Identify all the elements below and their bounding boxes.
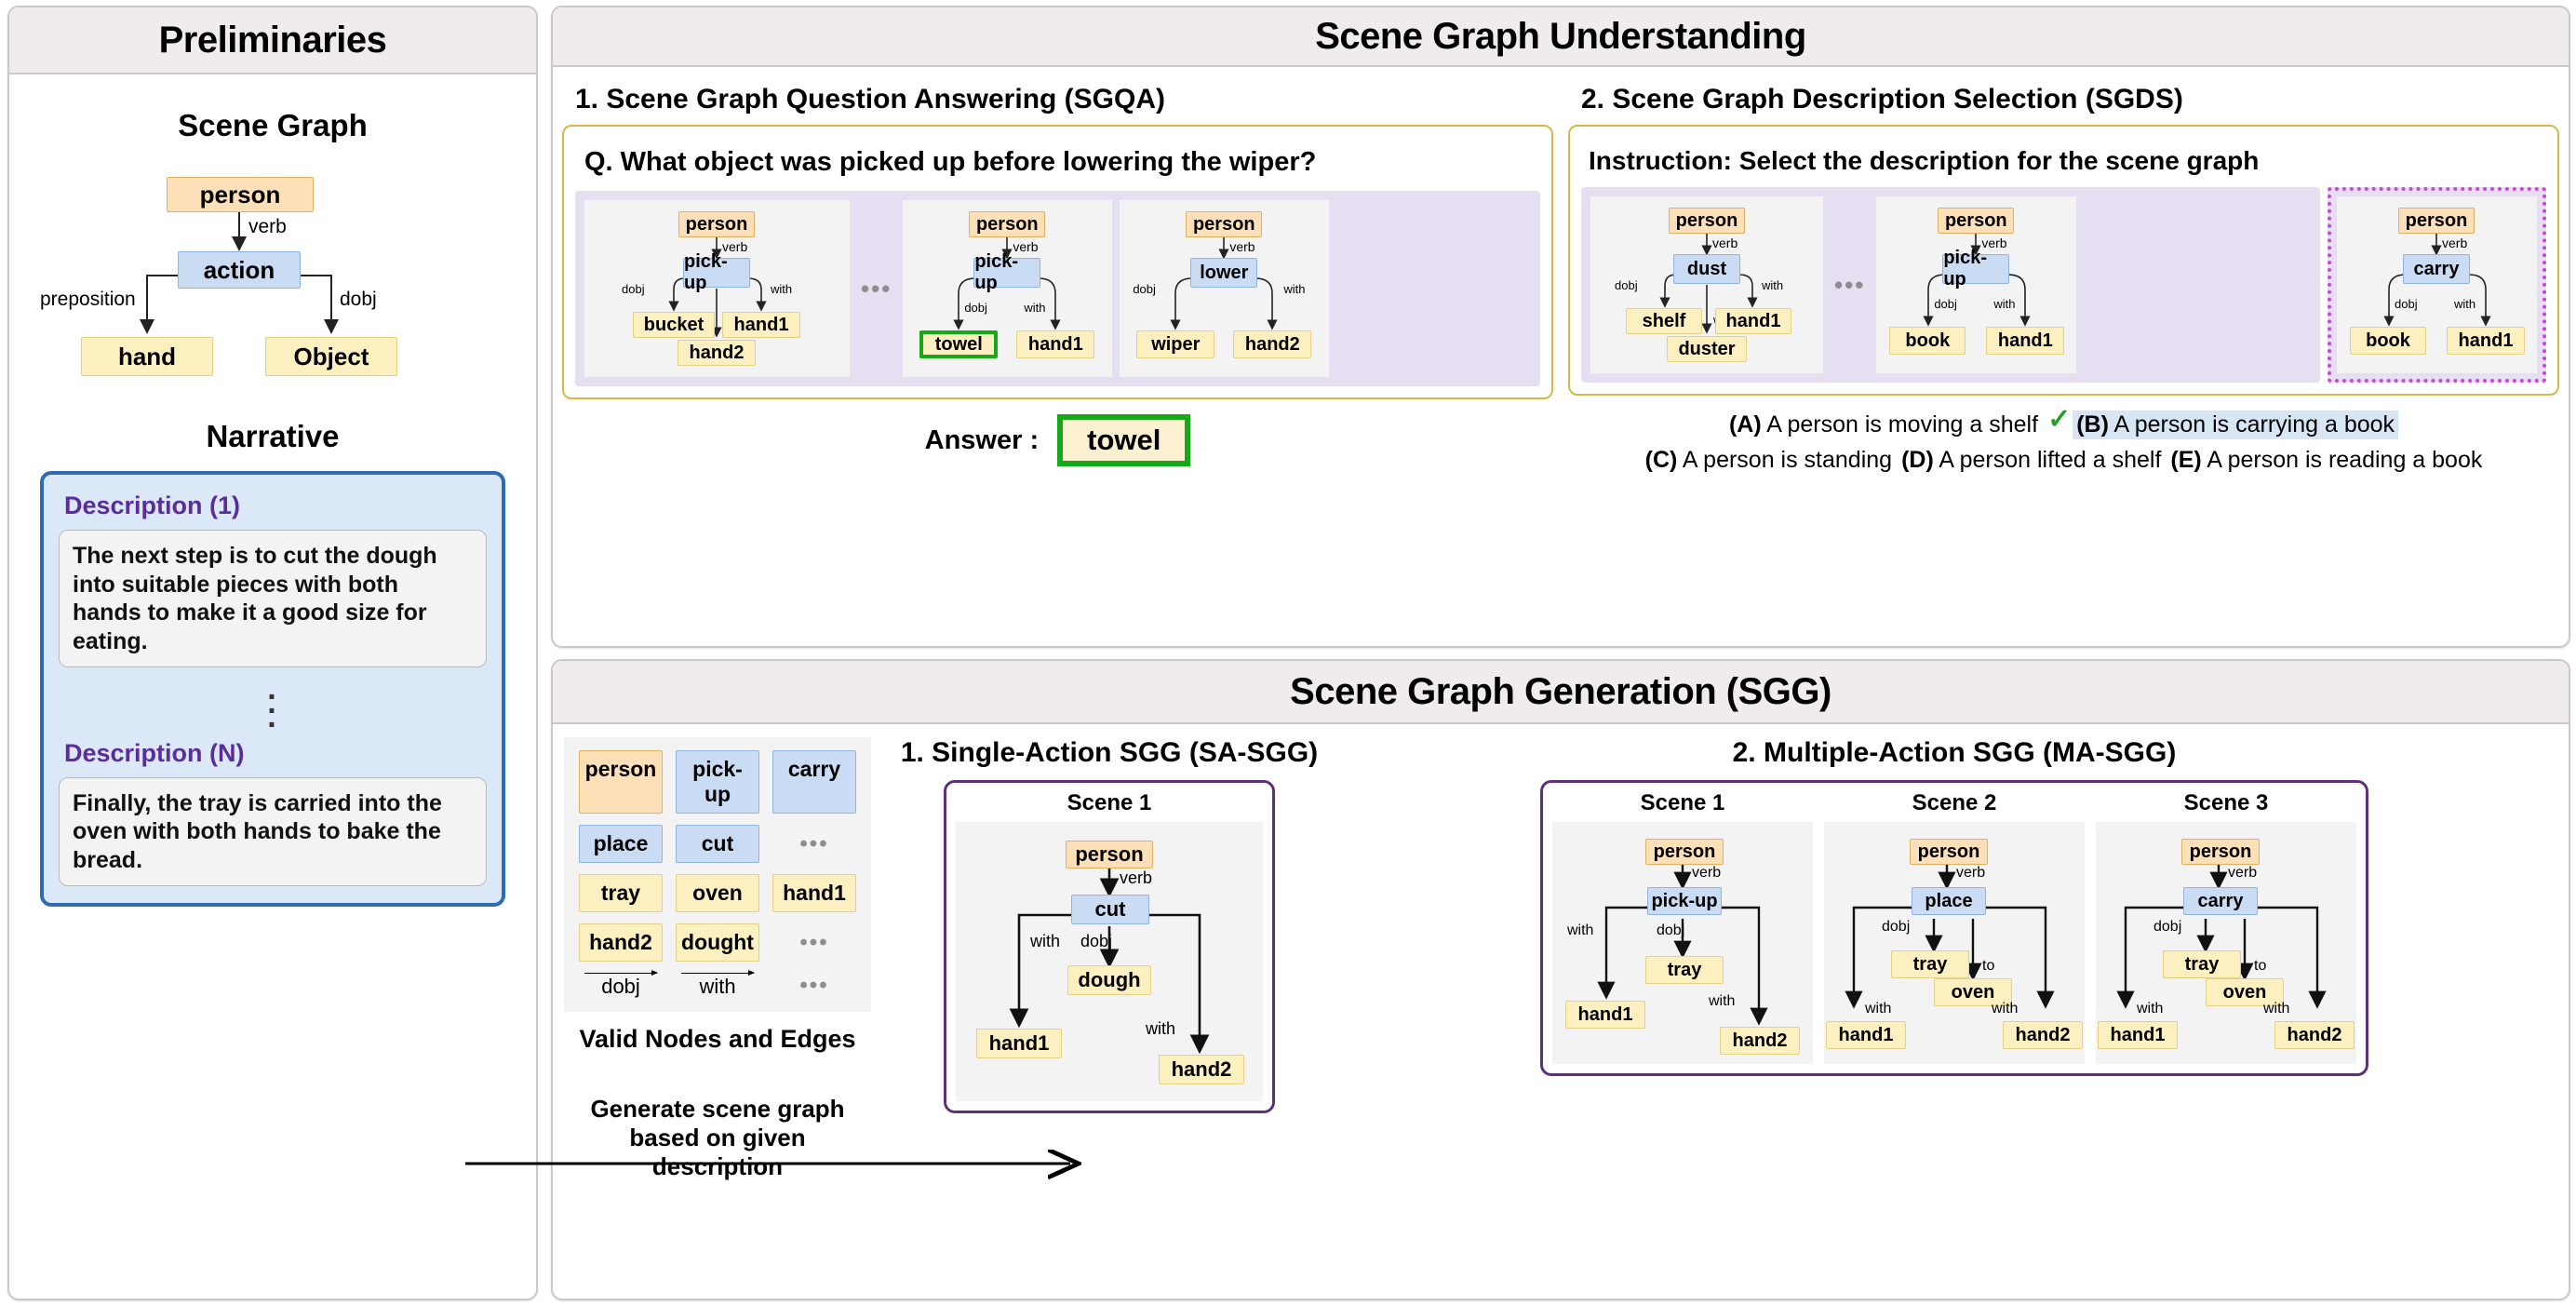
arrow-icon-dobj	[584, 973, 657, 974]
ma-sgg-panel: Scene 1 person	[1540, 780, 2368, 1076]
sgqa-graph-2: person verb pick-up dobj with towel hand…	[903, 200, 1112, 377]
sgds-g3-dobj: book	[2350, 327, 2426, 355]
scene-graph-generation-card: Scene Graph Generation (SGG) person pick…	[551, 659, 2570, 1300]
ma-s2-with-left: hand1	[1826, 1021, 1906, 1049]
sgqa-answer-row: Answer : towel	[562, 414, 1553, 466]
sgds-g3-action: carry	[2403, 254, 2470, 284]
answer-value: towel	[1057, 414, 1190, 466]
sgds-g3-dobj-label: dobj	[2395, 297, 2418, 311]
sgds-selected-graph-wrapper[interactable]: person verb carry dobj with book hand1	[2328, 187, 2546, 383]
sgqa-graph-strip: person verb pick-up dobj with with bucke…	[575, 191, 1540, 386]
preliminaries-body: Scene Graph person verb action prepositi…	[9, 74, 536, 923]
ma-s1-action: pick-up	[1647, 887, 1722, 915]
sa-sgg-subtitle: 1. Single-Action SGG (SA-SGG)	[901, 737, 1318, 769]
option-b-text: A person is carrying a book	[2114, 411, 2395, 438]
sa-edge-dobj: dobj	[1080, 932, 1112, 951]
sgg-graphs-column: 1. Single-Action SGG (SA-SGG) Scene 1	[877, 732, 2557, 1182]
sgds-instruction: Instruction: Select the description for …	[1589, 146, 2541, 176]
vocab-ellipsis-icon-3: •••	[772, 973, 856, 999]
description-n-label: Description (N)	[64, 739, 487, 768]
sgds-candidate-strip: person verb dust dobj with with shelf ha…	[1581, 187, 2320, 383]
prelim-node-person: person	[167, 177, 314, 212]
sgqa-g2-dobj-highlighted: towel	[919, 330, 998, 358]
vocab-chip-hand2[interactable]: hand2	[579, 923, 663, 962]
ma-scene-3: Scene 3	[2096, 790, 2356, 1064]
sa-sgg-column: 1. Single-Action SGG (SA-SGG) Scene 1	[877, 732, 1342, 1182]
option-b[interactable]: (B) A person is carrying a book	[2073, 411, 2398, 439]
generation-title: Scene Graph Generation (SGG)	[1290, 671, 1831, 713]
sgds-g1-dobj-label: dobj	[1615, 278, 1638, 292]
sgds-g1-verb: verb	[1712, 236, 1737, 250]
preliminaries-title: Preliminaries	[159, 20, 387, 61]
description-1-label: Description (1)	[64, 491, 487, 520]
understanding-title: Scene Graph Understanding	[1315, 16, 1806, 58]
ma-s2-with-right: hand2	[2003, 1021, 2083, 1049]
sgqa-g2-action: pick-up	[973, 258, 1040, 288]
option-e-key: (E)	[2170, 447, 2201, 473]
sgds-g1-with1-label: with	[1762, 278, 1783, 292]
vocab-chip-hand1[interactable]: hand1	[772, 874, 856, 912]
ma-s2-verb: verb	[1956, 865, 1985, 882]
sgds-g1-action: dust	[1673, 254, 1740, 284]
generation-body: person pick-up carry place cut ••• tray …	[553, 724, 2569, 1192]
vocab-edge-dobj-label: dobj	[601, 975, 640, 999]
vocab-chip-carry[interactable]: carry	[772, 750, 856, 814]
ma-scene-3-title: Scene 3	[2096, 790, 2356, 816]
ma-s3-verb: verb	[2228, 865, 2257, 882]
sa-edge-verb: verb	[1120, 868, 1152, 888]
ma-s1-dobj-label: dobj	[1657, 922, 1684, 939]
ma-scene-1-title: Scene 1	[1552, 790, 1813, 816]
sa-node-person: person	[1066, 841, 1153, 868]
sgqa-g1-with1: hand1	[722, 312, 800, 338]
ma-s1-verb: verb	[1692, 865, 1721, 882]
sgds-options-line-1: (A) A person is moving a shelf ✓ (B) A p…	[1568, 409, 2559, 441]
sgqa-graph-1: person verb pick-up dobj with with bucke…	[584, 200, 850, 377]
sgqa-g1-action: pick-up	[683, 258, 750, 288]
narrative-to-sgg-arrow-icon	[456, 1145, 1107, 1182]
ma-s3-action: carry	[2183, 887, 2258, 915]
prelim-node-object: Object	[265, 337, 397, 376]
vocab-edge-with[interactable]: with	[676, 973, 759, 999]
ma-s3-dobj: tray	[2163, 950, 2241, 978]
sgqa-g3-dobj-label: dobj	[1133, 282, 1156, 296]
option-d-key: (D)	[1901, 447, 1934, 473]
sgqa-ellipsis-icon: •••	[857, 275, 895, 303]
ma-s1-with-right-label: with	[1709, 993, 1735, 1010]
prelim-node-hand: hand	[81, 337, 213, 376]
ma-s1-with-left-label: with	[1567, 922, 1593, 939]
sgds-panel: Instruction: Select the description for …	[1568, 125, 2559, 396]
sgds-g1-person: person	[1669, 208, 1745, 234]
sgds-g3-person: person	[2398, 208, 2475, 234]
sgds-graph-2: person verb pick-up dobj with book hand1	[1876, 196, 2076, 373]
option-c[interactable]: (C) A person is standing	[1645, 447, 1892, 474]
prelim-edge-preposition: preposition	[40, 289, 136, 311]
prelim-edge-dobj: dobj	[340, 289, 377, 311]
ma-s3-to-label: to	[2254, 958, 2266, 975]
sa-node-with-right: hand2	[1159, 1055, 1244, 1084]
option-d-text: A person lifted a shelf	[1939, 447, 2161, 473]
vocab-chip-cut[interactable]: cut	[676, 825, 759, 863]
sgqa-g3-with1-label: with	[1283, 282, 1305, 296]
option-c-key: (C)	[1645, 447, 1678, 473]
ma-scene-2-title: Scene 2	[1824, 790, 2085, 816]
narrative-box: Description (1) The next step is to cut …	[40, 471, 505, 907]
sa-sgg-panel: Scene 1 person verb	[944, 780, 1275, 1113]
ma-s3-with-left: hand1	[2098, 1021, 2178, 1049]
answer-label: Answer :	[925, 425, 1039, 456]
sgqa-g3-with1: hand2	[1233, 330, 1311, 358]
description-1-text: The next step is to cut the dough into s…	[59, 530, 487, 667]
ma-s3-with-right-label: with	[2263, 1001, 2289, 1017]
sgqa-g2-dobj-label: dobj	[964, 301, 987, 315]
ma-s1-dobj: tray	[1645, 956, 1724, 984]
ma-s3-with-left-label: with	[2137, 1001, 2163, 1017]
vertical-ellipsis-icon: ...	[59, 667, 487, 735]
sgds-g3-verb: verb	[2442, 236, 2467, 250]
vocab-column: person pick-up carry place cut ••• tray …	[564, 732, 871, 1182]
sgqa-g3-dobj: wiper	[1136, 330, 1214, 358]
sgds-graph-row: person verb dust dobj with with shelf ha…	[1581, 187, 2546, 383]
arrow-icon-with	[681, 973, 754, 974]
ma-s1-with-right: hand2	[1720, 1027, 1800, 1055]
sa-scene-graph: person verb cut with dobj dough with han…	[956, 822, 1263, 1101]
sa-node-action: cut	[1071, 895, 1149, 924]
sgds-g1-with1: hand1	[1715, 308, 1791, 334]
sgqa-g1-with1-label: with	[771, 282, 792, 296]
ma-s3-with-right: hand2	[2274, 1021, 2355, 1049]
preliminaries-card: Preliminaries Scene Graph person verb	[7, 6, 538, 1300]
ma-s2-with-right-label: with	[1992, 1001, 2018, 1017]
vocab-chip-oven[interactable]: oven	[676, 874, 759, 912]
generation-note-line-1: Generate scene graph	[564, 1095, 871, 1124]
sgds-g2-person: person	[1938, 208, 2014, 234]
right-column: Scene Graph Understanding 1. Scene Graph…	[551, 6, 2570, 1300]
vocab-edge-with-label: with	[699, 975, 735, 999]
sa-node-with-left: hand1	[976, 1029, 1062, 1058]
sa-edge-with-right: with	[1146, 1019, 1175, 1039]
scene-graph-understanding-card: Scene Graph Understanding 1. Scene Graph…	[551, 6, 2570, 648]
check-icon: ✓	[2047, 403, 2071, 436]
sgds-graph-1: person verb dust dobj with with shelf ha…	[1590, 196, 1823, 373]
sgqa-g1-with2: hand2	[678, 340, 756, 366]
ma-s3-dobj-label: dobj	[2153, 919, 2181, 936]
vocab-edge-dobj[interactable]: dobj	[579, 973, 663, 999]
sgds-ellipsis-icon: •••	[1831, 271, 1869, 300]
vocab-chip-tray[interactable]: tray	[579, 874, 663, 912]
vocab-ellipsis-icon-1: •••	[772, 825, 856, 863]
ma-s1-person: person	[1645, 839, 1724, 865]
sgds-g2-dobj-label: dobj	[1934, 297, 1957, 311]
ma-sgg-column: 2. Multiple-Action SGG (MA-SGG) Scene 1	[1351, 732, 2557, 1182]
vocab-chip-pick-up[interactable]: pick-up	[676, 750, 759, 814]
sgds-subtitle: 2. Scene Graph Description Selection (SG…	[1581, 84, 2559, 115]
generation-header: Scene Graph Generation (SGG)	[553, 661, 2569, 724]
understanding-body: 1. Scene Graph Question Answering (SGQA)…	[553, 67, 2569, 481]
ma-scene-1: Scene 1 person	[1552, 790, 1813, 1064]
sgds-g1-with2: duster	[1667, 336, 1747, 362]
sgqa-question: Q. What object was picked up before lowe…	[584, 147, 1535, 178]
vocab-grid: person pick-up carry place cut ••• tray …	[564, 737, 871, 1012]
ma-sgg-subtitle: 2. Multiple-Action SGG (MA-SGG)	[1733, 737, 2177, 769]
option-b-key: (B)	[2076, 411, 2109, 438]
sgds-g2-action: pick-up	[1942, 254, 2009, 284]
sgds-g1-dobj: shelf	[1626, 308, 1702, 334]
sgqa-column: 1. Scene Graph Question Answering (SGQA)…	[562, 73, 1553, 474]
sgqa-g1-dobj-label: dobj	[622, 282, 645, 296]
ma-scene-3-graph: person verb carry dobj tray to oven with	[2096, 822, 2356, 1064]
sgqa-g2-person: person	[969, 211, 1045, 237]
ma-scene-1-graph: person verb pick-up with dobj tray with …	[1552, 822, 1813, 1064]
sgds-graph-3: person verb carry dobj with book hand1	[2337, 196, 2537, 373]
sgqa-subtitle: 1. Scene Graph Question Answering (SGQA)	[575, 84, 1553, 115]
option-e-text: A person is reading a book	[2207, 447, 2482, 473]
sgds-g3-with1-label: with	[2454, 297, 2475, 311]
option-a[interactable]: (A) A person is moving a shelf	[1729, 411, 2038, 438]
understanding-header: Scene Graph Understanding	[553, 7, 2569, 67]
ma-s1-with-left: hand1	[1565, 1001, 1645, 1029]
sa-edge-with-left: with	[1030, 932, 1060, 951]
sgds-options-line-2: (C) A person is standing (D) A person li…	[1568, 447, 2559, 474]
sgqa-g3-verb: verb	[1229, 239, 1254, 254]
narrative-heading: Narrative	[206, 419, 339, 454]
preliminaries-header: Preliminaries	[9, 7, 536, 74]
sa-scene-title: Scene 1	[956, 790, 1263, 816]
vocab-chip-person[interactable]: person	[579, 750, 663, 814]
ma-s2-dobj-label: dobj	[1882, 919, 1910, 936]
prelim-node-action: action	[178, 251, 301, 289]
vocab-ellipsis-icon-2: •••	[772, 923, 856, 962]
sgqa-g2-with1-label: with	[1024, 301, 1045, 315]
sgqa-g1-person: person	[678, 211, 755, 237]
ma-s2-dobj: tray	[1891, 950, 1969, 978]
sa-node-dobj: dough	[1067, 965, 1151, 995]
option-e[interactable]: (E) A person is reading a book	[2170, 447, 2482, 474]
sgds-options: (A) A person is moving a shelf ✓ (B) A p…	[1568, 409, 2559, 474]
vocab-chip-place[interactable]: place	[579, 825, 663, 863]
sgqa-g3-action: lower	[1190, 258, 1257, 288]
ma-s3-person: person	[2181, 839, 2260, 865]
sgds-g2-dobj: book	[1889, 327, 1966, 355]
sgds-g2-with1-label: with	[1993, 297, 2015, 311]
ma-scene-2-graph: person verb place dobj tray to oven with	[1824, 822, 2085, 1064]
ma-scene-2: Scene 2	[1824, 790, 2085, 1064]
scene-graph-diagram: person verb action preposition dobj hand…	[40, 160, 505, 402]
option-c-text: A person is standing	[1683, 447, 1892, 473]
option-d[interactable]: (D) A person lifted a shelf	[1901, 447, 2161, 474]
option-a-key: (A)	[1729, 411, 1762, 438]
sgqa-g2-with1: hand1	[1016, 330, 1094, 358]
prelim-edge-verb: verb	[248, 216, 287, 238]
sgqa-graph-3: person verb lower dobj with wiper hand2	[1120, 200, 1329, 377]
figure-root: Preliminaries Scene Graph person verb	[0, 0, 2576, 1306]
sgqa-g1-dobj: bucket	[633, 312, 715, 338]
option-a-text: A person is moving a shelf	[1766, 411, 2038, 438]
ma-s2-with-left-label: with	[1865, 1001, 1891, 1017]
vocab-caption: Valid Nodes and Edges	[579, 1025, 855, 1054]
sgds-g3-with1: hand1	[2447, 327, 2525, 355]
sgds-g2-with1: hand1	[1986, 327, 2064, 355]
scene-graph-heading: Scene Graph	[178, 108, 368, 143]
ma-s2-to-label: to	[1982, 958, 1994, 975]
ma-scene-row: Scene 1 person	[1552, 790, 2356, 1064]
vocab-chip-dought[interactable]: dought	[676, 923, 759, 962]
sgqa-panel: Q. What object was picked up before lowe…	[562, 125, 1553, 399]
ma-s2-action: place	[1912, 887, 1986, 915]
description-n-text: Finally, the tray is carried into the ov…	[59, 777, 487, 887]
sgds-column: 2. Scene Graph Description Selection (SG…	[1568, 73, 2559, 474]
ma-s2-person: person	[1910, 839, 1988, 865]
sgqa-g3-person: person	[1186, 211, 1262, 237]
